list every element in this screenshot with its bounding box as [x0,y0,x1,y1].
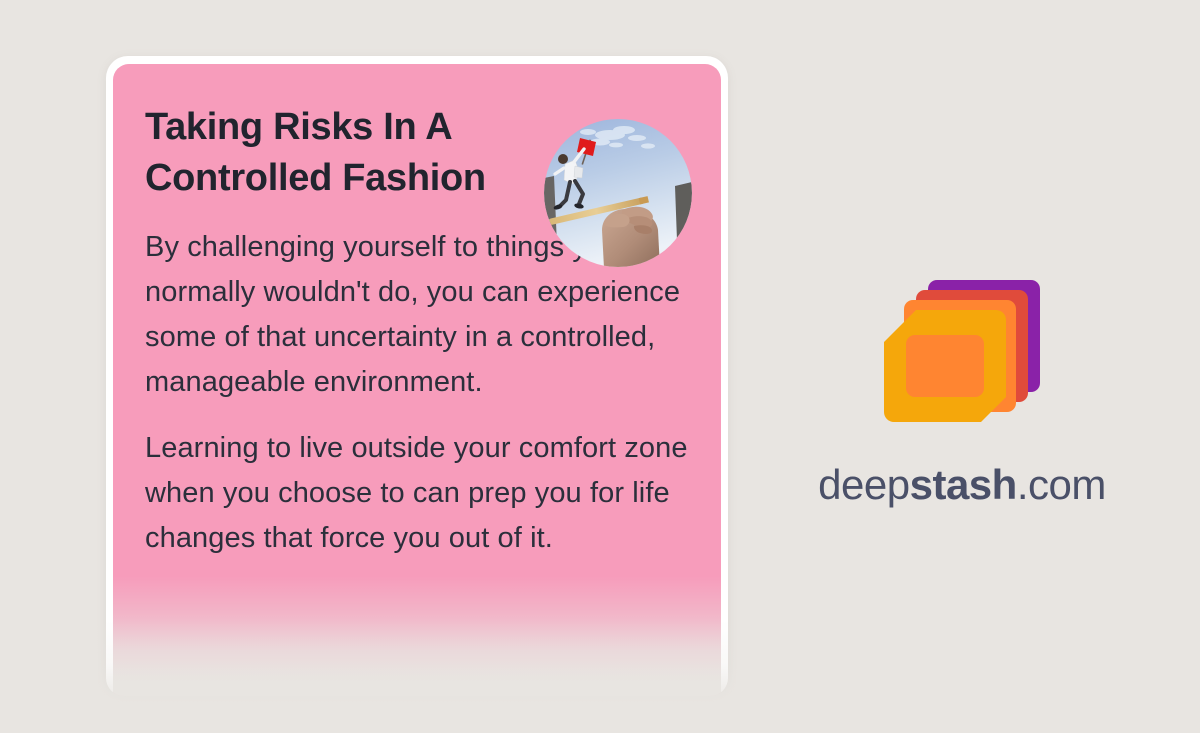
idea-paragraph: Learning to live outside your comfort zo… [145,426,720,561]
fade-overlay [113,576,721,696]
deepstash-stacked-cards-logo-icon [812,272,1112,447]
risk-taking-photo-icon [544,118,692,268]
page-title: Taking Risks In A Controlled Fashion [145,102,545,204]
idea-card-body: Taking Risks In A Controlled Fashion [113,64,721,696]
wordmark-stash: stash [910,461,1017,508]
brand-wordmark: deepstash.com [812,461,1112,509]
idea-card[interactable]: Taking Risks In A Controlled Fashion [106,56,728,696]
wordmark-deep: deep [818,461,909,508]
brand-block: deepstash.com [812,272,1112,509]
wordmark-domain: .com [1017,461,1106,508]
